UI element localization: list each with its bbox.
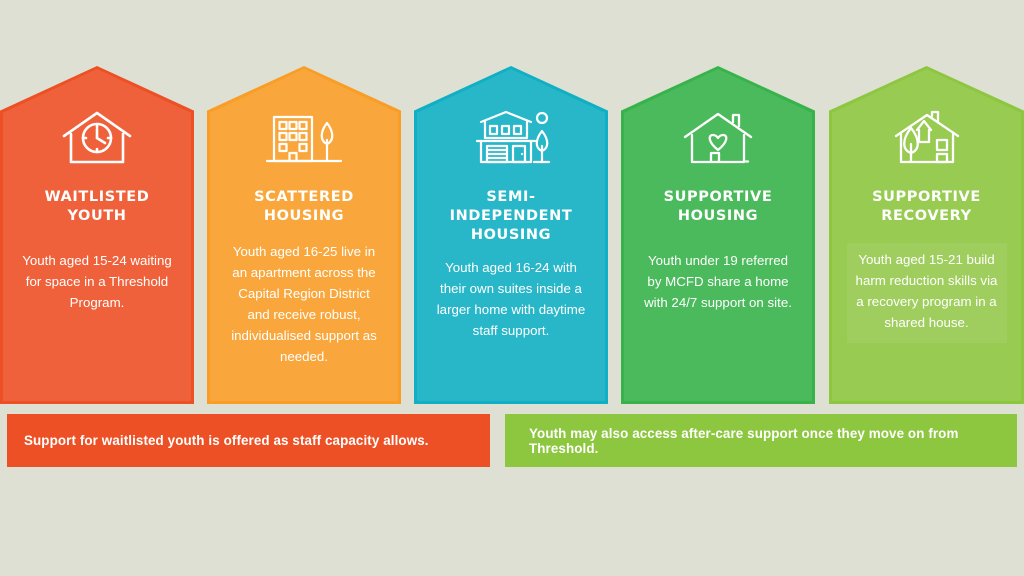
house-heart-icon bbox=[675, 108, 761, 170]
card-title: WAITLISTED YOUTH bbox=[12, 188, 182, 226]
card-title: SUPPORTIVE HOUSING bbox=[633, 188, 803, 226]
banner-aftercare-note: Youth may also access after-care support… bbox=[505, 414, 1017, 467]
banner-text: Support for waitlisted youth is offered … bbox=[24, 433, 429, 448]
card-title-line: WAITLISTED bbox=[12, 188, 182, 207]
card-title-line: SCATTERED bbox=[219, 188, 389, 207]
card-body-text: Youth aged 16-24 with their own suites i… bbox=[435, 257, 587, 341]
card-title: SUPPORTIVE RECOVERY bbox=[842, 188, 1012, 226]
housing-pathways-infographic: WAITLISTED YOUTH Youth aged 15-24 waitin… bbox=[0, 0, 1024, 576]
program-card-scattered-housing[interactable]: SCATTERED HOUSING Youth aged 16-25 live … bbox=[207, 66, 401, 404]
card-title: SCATTERED HOUSING bbox=[219, 188, 389, 226]
apartment-building-tree-icon bbox=[261, 108, 347, 170]
card-body-text: Youth under 19 referred by MCFD share a … bbox=[642, 250, 794, 313]
program-card-semi-independent-housing[interactable]: SEMI- INDEPENDENT HOUSING Youth aged 16-… bbox=[414, 66, 608, 404]
card-title-line: HOUSING bbox=[426, 226, 596, 245]
card-title-line: YOUTH bbox=[12, 207, 182, 226]
two-story-house-garage-icon bbox=[468, 108, 554, 170]
card-title-line: SUPPORTIVE bbox=[633, 188, 803, 207]
card-title: SEMI- INDEPENDENT HOUSING bbox=[426, 188, 596, 245]
card-title-line: SEMI- bbox=[426, 188, 596, 207]
card-title-line: HOUSING bbox=[219, 207, 389, 226]
banner-text: Youth may also access after-care support… bbox=[529, 426, 1017, 456]
card-title-line: INDEPENDENT bbox=[426, 207, 596, 226]
program-card-supportive-recovery[interactable]: SUPPORTIVE RECOVERY Youth aged 15-21 bui… bbox=[829, 66, 1024, 404]
program-card-waitlisted-youth[interactable]: WAITLISTED YOUTH Youth aged 15-24 waitin… bbox=[0, 66, 194, 404]
house-clock-icon bbox=[54, 108, 140, 170]
program-card-supportive-housing[interactable]: SUPPORTIVE HOUSING Youth under 19 referr… bbox=[621, 66, 815, 404]
card-title-line: RECOVERY bbox=[842, 207, 1012, 226]
program-card-row: WAITLISTED YOUTH Youth aged 15-24 waitin… bbox=[0, 66, 1024, 404]
card-body-text: Youth aged 15-24 waiting for space in a … bbox=[21, 250, 173, 313]
card-title-line: HOUSING bbox=[633, 207, 803, 226]
card-body-text: Youth aged 16-25 live in an apartment ac… bbox=[228, 241, 380, 367]
banner-waitlist-note: Support for waitlisted youth is offered … bbox=[7, 414, 490, 467]
card-body-text: Youth aged 15-21 build harm reduction sk… bbox=[847, 243, 1007, 343]
card-title-line: SUPPORTIVE bbox=[842, 188, 1012, 207]
house-dormer-tree-icon bbox=[884, 108, 970, 170]
